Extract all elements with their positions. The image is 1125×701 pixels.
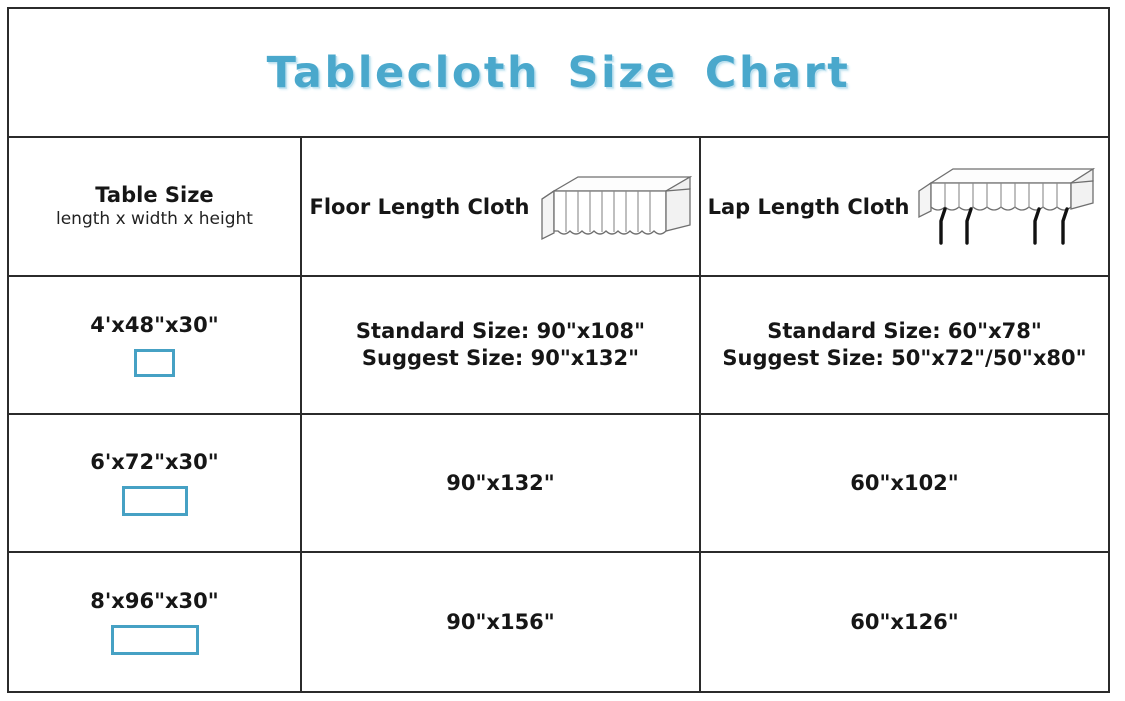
lap-length-table-icon: [915, 159, 1101, 255]
page-title: Tablecloth Size Chart: [267, 48, 851, 98]
table-shape-rectangle: [134, 349, 175, 377]
floor-suggest-size: Suggest Size: 90"x132": [362, 345, 639, 372]
lap-length-heading: Lap Length Cloth: [708, 195, 910, 219]
cell-table-size: 6'x72"x30": [9, 415, 302, 551]
cell-lap-length-size: 60"x126": [701, 553, 1108, 691]
table-size-value: 8'x96"x30": [90, 589, 218, 613]
floor-value-stack: Standard Size: 90"x108" Suggest Size: 90…: [356, 318, 645, 372]
size-stack: 4'x48"x30": [90, 313, 218, 377]
table-size-value: 4'x48"x30": [90, 313, 218, 337]
lap-heading-row: Lap Length Cloth: [701, 159, 1108, 255]
table-size-subheading: length x width x height: [56, 209, 253, 231]
floor-size-value: 90"x132": [446, 471, 555, 495]
floor-standard-size: Standard Size: 90"x108": [356, 318, 645, 345]
header-cell-table-size: Table Size length x width x height: [9, 138, 302, 275]
lap-suggest-size: Suggest Size: 50"x72"/50"x80": [722, 345, 1086, 372]
size-stack: 6'x72"x30": [90, 450, 218, 516]
title-band: Tablecloth Size Chart: [9, 9, 1108, 138]
floor-length-heading: Floor Length Cloth: [310, 195, 530, 219]
cell-lap-length-size: 60"x102": [701, 415, 1108, 551]
floor-heading-row: Floor Length Cloth: [302, 169, 699, 245]
table-size-heading-stack: Table Size length x width x height: [56, 182, 253, 231]
table-shape-rectangle: [111, 625, 199, 655]
floor-length-table-icon: [536, 169, 692, 245]
table-row: 6'x72"x30" 90"x132" 60"x102": [9, 415, 1108, 553]
table-row: 4'x48"x30" Standard Size: 90"x108" Sugge…: [9, 277, 1108, 415]
cell-lap-length-size: Standard Size: 60"x78" Suggest Size: 50"…: [701, 277, 1108, 413]
lap-size-value: 60"x126": [850, 610, 959, 634]
size-table: Table Size length x width x height Floor…: [9, 138, 1108, 691]
cell-table-size: 4'x48"x30": [9, 277, 302, 413]
lap-standard-size: Standard Size: 60"x78": [767, 318, 1042, 345]
header-cell-lap-length: Lap Length Cloth: [701, 138, 1108, 275]
table-row: 8'x96"x30" 90"x156" 60"x126": [9, 553, 1108, 691]
table-header-row: Table Size length x width x height Floor…: [9, 138, 1108, 277]
cell-floor-length-size: Standard Size: 90"x108" Suggest Size: 90…: [302, 277, 701, 413]
floor-size-value: 90"x156": [446, 610, 555, 634]
table-shape-rectangle: [122, 486, 188, 516]
cell-table-size: 8'x96"x30": [9, 553, 302, 691]
cell-floor-length-size: 90"x156": [302, 553, 701, 691]
cell-floor-length-size: 90"x132": [302, 415, 701, 551]
tablecloth-size-chart: Tablecloth Size Chart Table Size length …: [7, 7, 1110, 693]
table-size-heading: Table Size: [95, 182, 213, 209]
lap-size-value: 60"x102": [850, 471, 959, 495]
table-size-value: 6'x72"x30": [90, 450, 218, 474]
lap-value-stack: Standard Size: 60"x78" Suggest Size: 50"…: [722, 318, 1086, 372]
header-cell-floor-length: Floor Length Cloth: [302, 138, 701, 275]
size-stack: 8'x96"x30": [90, 589, 218, 655]
